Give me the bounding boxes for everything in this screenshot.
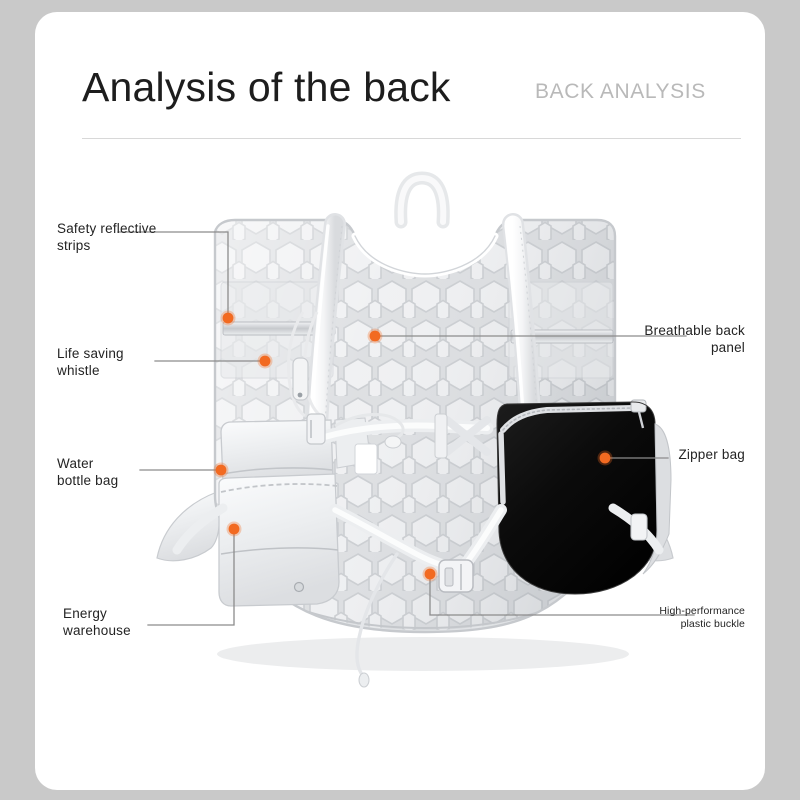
callout-label-energy-warehouse: Energy warehouse <box>63 605 131 640</box>
callout-label-safety-reflective-strips: Safety reflective strips <box>57 220 156 255</box>
callout-label-breathable-back-panel: Breathable back panel <box>644 322 745 357</box>
high-performance-plastic-buckle <box>439 560 473 592</box>
callout-label-zipper-bag: Zipper bag <box>678 446 745 463</box>
product-shadow <box>217 637 629 671</box>
callout-label-life-saving-whistle: Life saving whistle <box>57 345 124 380</box>
title-divider <box>82 138 741 139</box>
callout-label-water-bottle-bag: Water bottle bag <box>57 455 118 490</box>
page-subtitle: BACK ANALYSIS <box>535 80 706 104</box>
carry-handle-loop <box>401 178 444 222</box>
product-infographic: Analysis of the back BACK ANALYSIS <box>0 0 800 800</box>
energy-warehouse-pocket <box>219 474 339 606</box>
callout-label-high-performance-plastic-buckle: High-performance plastic buckle <box>659 605 745 632</box>
left-strap-buckle <box>307 414 325 444</box>
zipper-bag <box>497 400 671 594</box>
page-title: Analysis of the back <box>82 64 451 111</box>
product-card: Analysis of the back BACK ANALYSIS <box>35 12 765 790</box>
